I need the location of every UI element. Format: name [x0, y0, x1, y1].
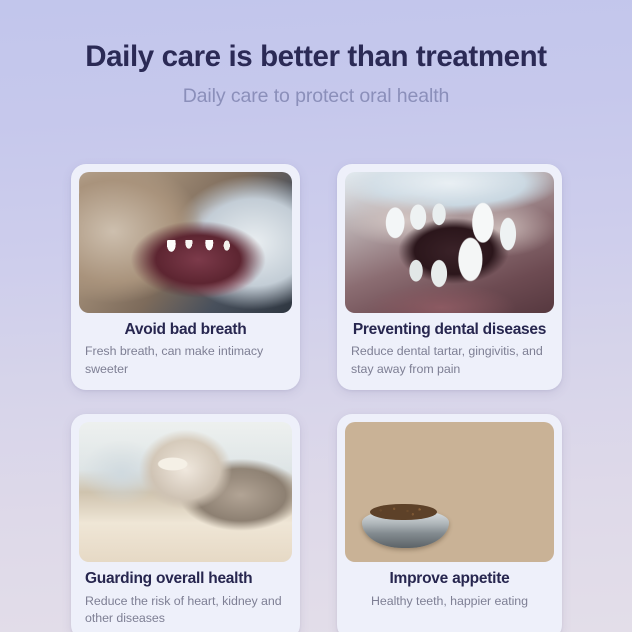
- benefit-card-guarding-overall-health[interactable]: Guarding overall health Reduce the risk …: [71, 414, 300, 632]
- cat-teeth-closeup-photo: [345, 172, 554, 313]
- benefit-cards-grid: Avoid bad breath Fresh breath, can make …: [71, 164, 562, 632]
- card-body: Avoid bad breath Fresh breath, can make …: [79, 313, 292, 378]
- card-description: Healthy teeth, happier eating: [351, 593, 548, 611]
- card-title: Improve appetite: [351, 569, 548, 589]
- card-image-avoid-bad-breath: [79, 172, 292, 313]
- page-subtitle: Daily care to protect oral health: [0, 85, 632, 108]
- card-image-improve-appetite: [345, 422, 554, 562]
- page-header: Daily care is better than treatment Dail…: [0, 0, 632, 108]
- page-title: Daily care is better than treatment: [0, 40, 632, 74]
- card-title: Preventing dental diseases: [351, 320, 548, 340]
- card-body: Improve appetite Healthy teeth, happier …: [345, 562, 554, 627]
- card-title: Avoid bad breath: [85, 320, 286, 340]
- card-description: Fresh breath, can make intimacy sweeter: [85, 343, 286, 378]
- card-description: Reduce dental tartar, gingivitis, and st…: [351, 343, 548, 378]
- card-description: Reduce the risk of heart, kidney and oth…: [85, 593, 286, 628]
- yawning-cat-open-mouth-photo: [79, 172, 292, 313]
- card-image-guarding-overall-health: [79, 422, 292, 562]
- card-image-preventing-dental-diseases: [345, 172, 554, 313]
- card-title: Guarding overall health: [85, 569, 286, 589]
- benefit-card-improve-appetite[interactable]: Improve appetite Healthy teeth, happier …: [337, 414, 562, 632]
- cat-resting-on-windowsill-photo: [79, 422, 292, 562]
- card-body: Preventing dental diseases Reduce dental…: [345, 313, 554, 378]
- card-body: Guarding overall health Reduce the risk …: [79, 562, 292, 627]
- cat-eating-from-bowl-photo: [345, 422, 554, 562]
- benefit-card-preventing-dental-diseases[interactable]: Preventing dental diseases Reduce dental…: [337, 164, 562, 390]
- benefit-card-avoid-bad-breath[interactable]: Avoid bad breath Fresh breath, can make …: [71, 164, 300, 390]
